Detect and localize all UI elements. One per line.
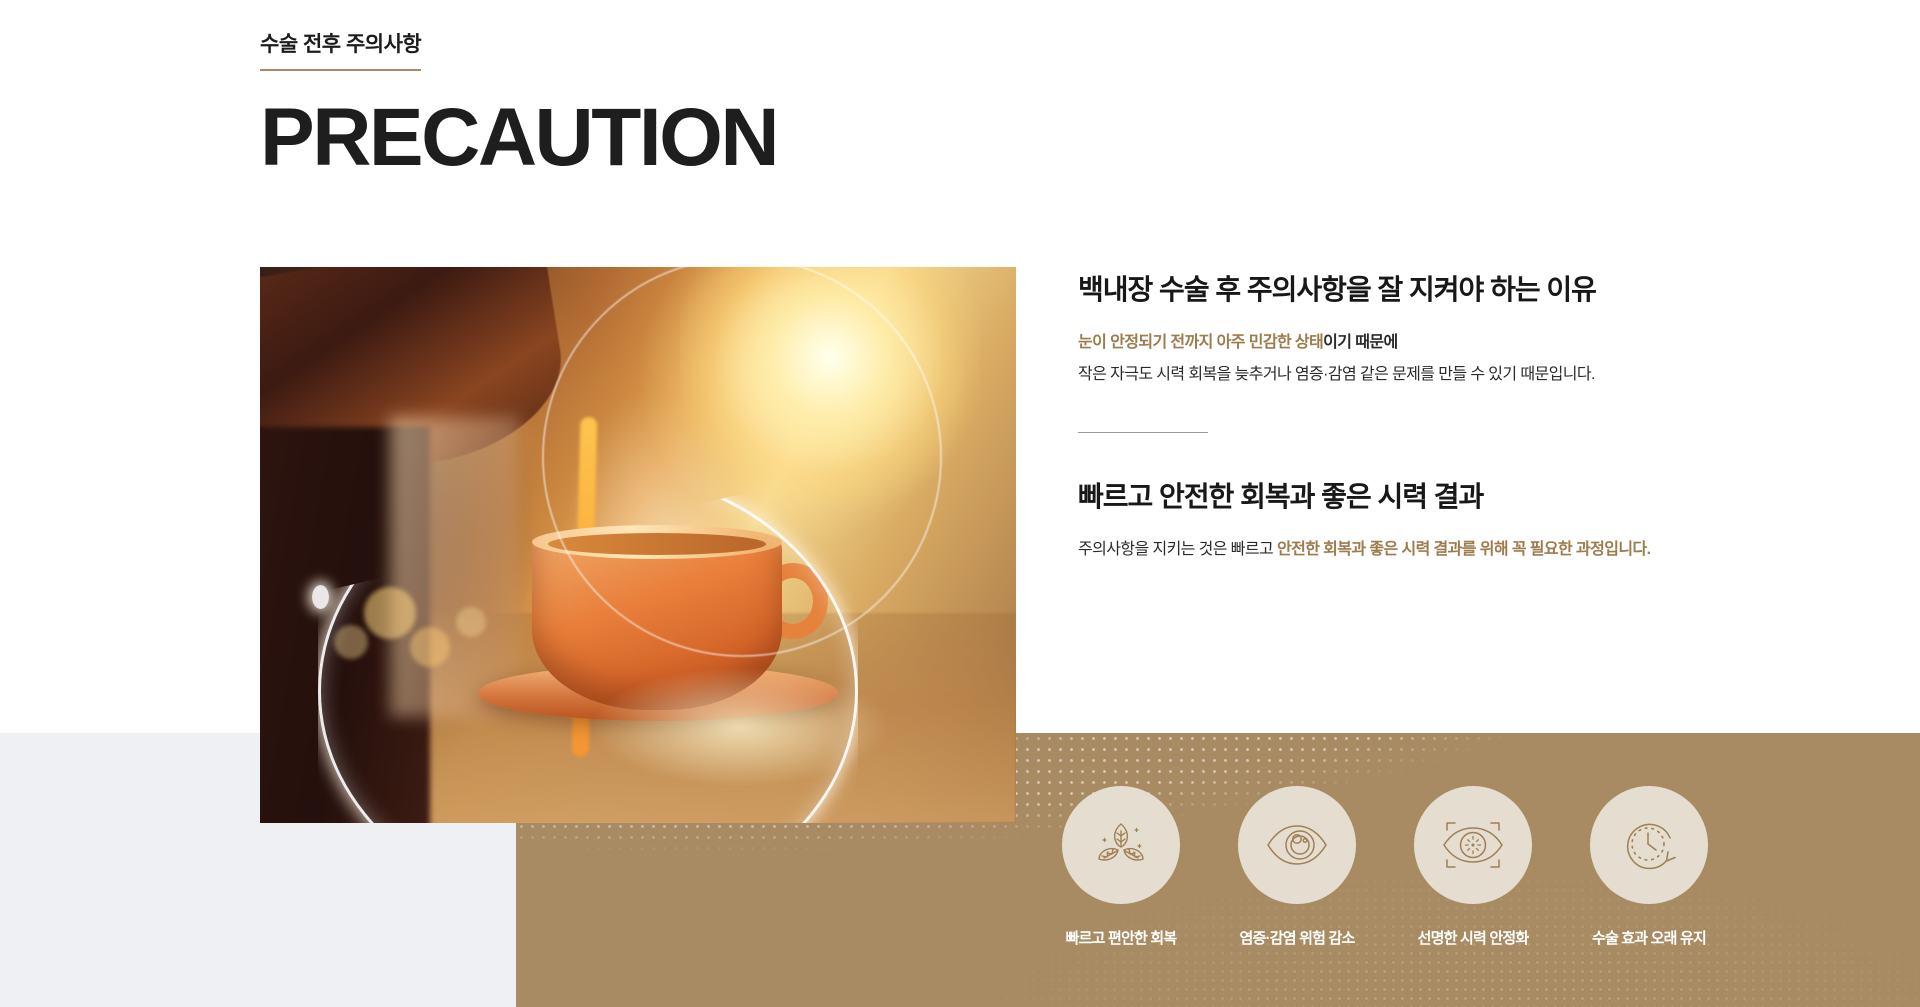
eyebrow-label: 수술 전후 주의사항 (260, 28, 421, 71)
eye-focus-frame-icon (1439, 817, 1507, 873)
section-reason: 백내장 수술 후 주의사항을 잘 지켜야 하는 이유 눈이 안정되기 전까지 아… (1078, 272, 1778, 388)
feature-icon-circle (1062, 786, 1180, 904)
section-body-line-1: 눈이 안정되기 전까지 아주 민감한 상태이기 때문에 (1078, 331, 1778, 356)
feature-item-duration[interactable]: 수술 효과 오래 유지 (1590, 786, 1708, 948)
feature-label: 빠르고 편안한 회복 (1066, 927, 1177, 948)
feature-icon-circle (1238, 786, 1356, 904)
feature-label: 염증·감염 위험 감소 (1240, 927, 1355, 948)
highlight-text: 눈이 안정되기 전까지 아주 민감한 상태 (1078, 334, 1323, 351)
feature-label: 선명한 시력 안정화 (1418, 927, 1529, 948)
feature-icon-circle (1414, 786, 1532, 904)
section-body-line-2: 작은 자극도 시력 회복을 늦추거나 염증·감염 같은 문제를 만들 수 있기 … (1078, 363, 1778, 388)
content-column: 백내장 수술 후 주의사항을 잘 지켜야 하는 이유 눈이 안정되기 전까지 아… (1078, 272, 1778, 562)
plain-text: 주의사항을 지키는 것은 빠르고 (1078, 541, 1277, 558)
section-heading: 백내장 수술 후 주의사항을 잘 지켜야 하는 이유 (1078, 272, 1778, 307)
leaves-icon (1090, 814, 1152, 876)
feature-item-recovery[interactable]: 빠르고 편안한 회복 (1062, 786, 1180, 948)
photo-light-ring-tip (312, 585, 329, 609)
page-header: 수술 전후 주의사항 PRECAUTION (260, 28, 777, 179)
feature-icon-circle (1590, 786, 1708, 904)
section-divider (1078, 432, 1208, 433)
plain-text: 이기 때문에 (1323, 334, 1397, 351)
hero-photo (260, 267, 1016, 823)
eye-iris-icon (1264, 820, 1330, 870)
section-body-line-1: 주의사항을 지키는 것은 빠르고 안전한 회복과 좋은 시력 결과를 위해 꼭 … (1078, 538, 1778, 563)
section-result: 빠르고 안전한 회복과 좋은 시력 결과 주의사항을 지키는 것은 빠르고 안전… (1078, 479, 1778, 563)
feature-list: 빠르고 편안한 회복 염증·감염 위험 감소 (1062, 786, 1708, 948)
highlight-text: 안전한 회복과 좋은 시력 결과를 위해 꼭 필요한 과정입니다. (1277, 541, 1651, 558)
section-heading: 빠르고 안전한 회복과 좋은 시력 결과 (1078, 479, 1778, 514)
page-title: PRECAUTION (260, 97, 777, 179)
feature-item-vision[interactable]: 선명한 시력 안정화 (1414, 786, 1532, 948)
feature-label: 수술 효과 오래 유지 (1592, 927, 1706, 948)
feature-item-infection[interactable]: 염증·감염 위험 감소 (1238, 786, 1356, 948)
clock-arrow-icon (1618, 814, 1680, 876)
